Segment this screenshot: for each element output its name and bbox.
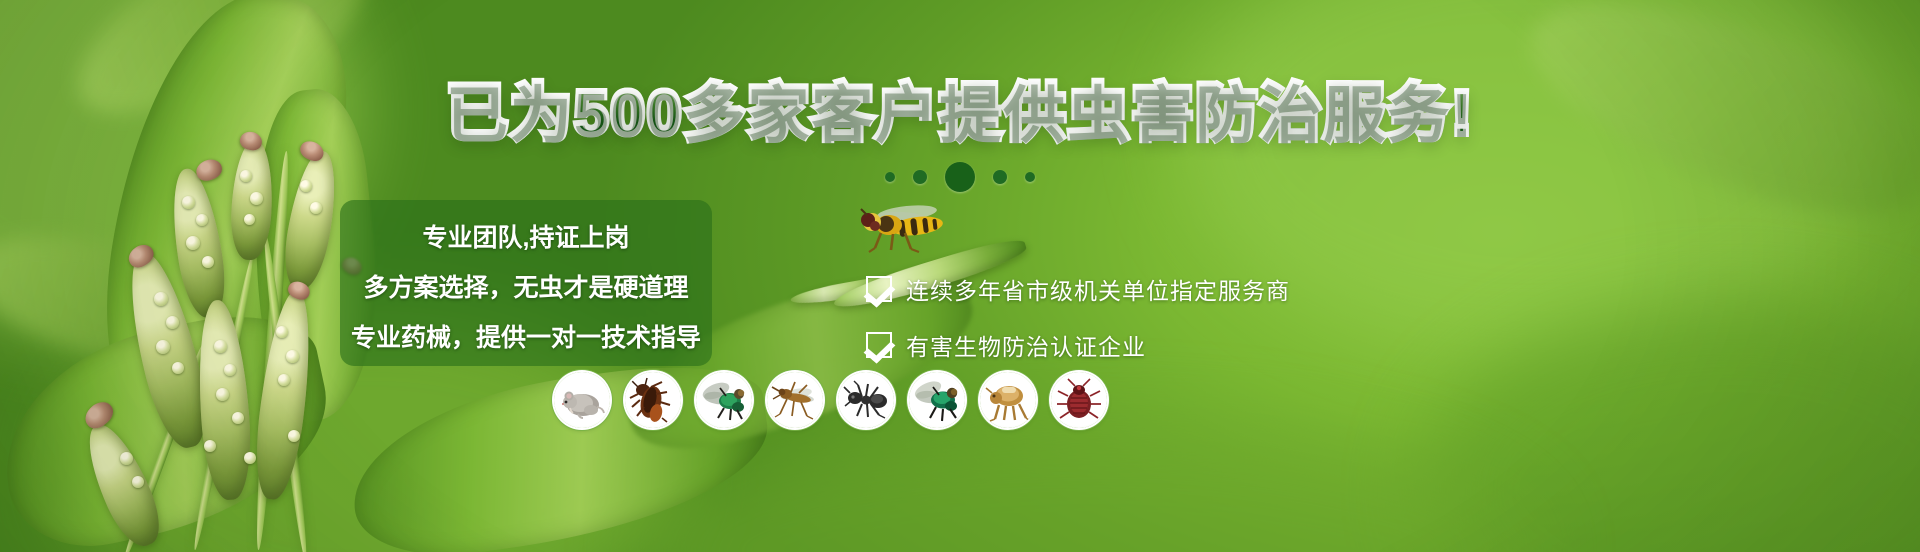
list-item: 连续多年省市级机关单位指定服务商 (866, 272, 1290, 306)
feature-line-1: 专业团队,持证上岗 (340, 218, 712, 254)
medium-dot-icon (913, 170, 927, 184)
list-item: 有害生物防治认证企业 (866, 328, 1290, 362)
decorative-dot-row (0, 162, 1920, 192)
checkbox-checked-icon (866, 276, 892, 302)
checkbox-checked-icon (866, 332, 892, 358)
page-title: 已为500多家客户提供虫害防治服务! (0, 78, 1920, 150)
small-dot-icon (1025, 172, 1035, 182)
checklist-text-2: 有害生物防治认证企业 (906, 328, 1146, 362)
large-dot-icon (945, 162, 975, 192)
certification-checklist: 连续多年省市级机关单位指定服务商 有害生物防治认证企业 (866, 272, 1290, 362)
small-dot-icon (885, 172, 895, 182)
mosquito-icon[interactable] (767, 372, 823, 428)
hoverfly-icon (845, 200, 955, 255)
flea-icon[interactable] (980, 372, 1036, 428)
checklist-text-1: 连续多年省市级机关单位指定服务商 (906, 272, 1290, 306)
promo-banner: 已为500多家客户提供虫害防治服务! 专业团队,持证上岗 多方案选择，无虫才是硬… (0, 0, 1920, 552)
cockroach-icon[interactable] (625, 372, 681, 428)
greenfly-icon[interactable] (909, 372, 965, 428)
feature-line-3: 专业药械，提供一对一技术指导 (312, 318, 740, 354)
ant-icon[interactable] (838, 372, 894, 428)
feature-highlight-panel: 专业团队,持证上岗 多方案选择，无虫才是硬道理 专业药械，提供一对一技术指导 (340, 200, 712, 366)
feature-line-2: 多方案选择，无虫才是硬道理 (318, 268, 734, 304)
pest-icon-row (554, 372, 1107, 428)
housefly-icon[interactable] (696, 372, 752, 428)
medium-dot-icon (993, 170, 1007, 184)
page-title-text: 已为500多家客户提供虫害防治服务! (446, 79, 1474, 148)
mouse-icon[interactable] (554, 372, 610, 428)
bedbug-icon[interactable] (1051, 372, 1107, 428)
